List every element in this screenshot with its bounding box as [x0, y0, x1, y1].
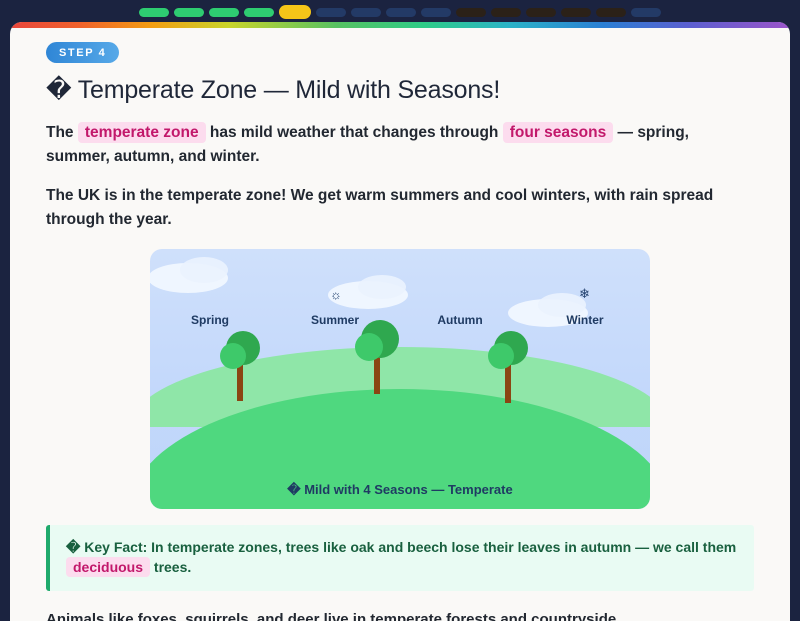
season-label-spring: Spring [165, 313, 255, 327]
tree-shape [220, 331, 260, 401]
intro-paragraph: The temperate zone has mild weather that… [46, 121, 754, 168]
illustration-caption: � Mild with 4 Seasons — Temperate [150, 482, 650, 498]
season-label-autumn: Autumn [415, 313, 505, 327]
progress-segment-3[interactable] [209, 8, 239, 17]
progress-segment-1[interactable] [139, 8, 169, 17]
key-fact-callout: � Key Fact: In temperate zones, trees li… [46, 525, 754, 591]
illustration-wrapper: ☼ ❄ Spring Summer Autumn Winter [46, 249, 754, 509]
tree-trunk [374, 354, 380, 394]
snowflake-icon: ❄ [579, 287, 590, 300]
tree-shape [355, 320, 399, 394]
paragraph1-part2: has mild weather that changes through [206, 124, 503, 141]
progress-segment-14[interactable] [596, 8, 626, 17]
progress-segment-4[interactable] [244, 8, 274, 17]
tree-canopy [488, 343, 514, 369]
progress-segment-13[interactable] [561, 8, 591, 17]
progress-segment-5[interactable] [279, 5, 311, 19]
highlight-temperate-zone: temperate zone [78, 122, 206, 143]
tree-trunk [505, 363, 511, 403]
progress-segment-6[interactable] [316, 8, 346, 17]
lesson-card: STEP 4 � Temperate Zone — Mild with Seas… [10, 22, 790, 621]
paragraph1-part1: The [46, 124, 78, 141]
season-label-winter: Winter [540, 313, 630, 327]
status-badge: STEP 4 [46, 42, 119, 63]
progress-segment-2[interactable] [174, 8, 204, 17]
seasons-illustration: ☼ ❄ Spring Summer Autumn Winter [150, 249, 650, 509]
key-fact-part1: � Key Fact: In temperate zones, trees li… [66, 539, 736, 555]
cloud-shape [180, 257, 228, 283]
key-fact-part2: trees. [150, 559, 191, 575]
closing-paragraph: Animals like foxes, squirrels, and deer … [46, 611, 754, 621]
highlight-four-seasons: four seasons [503, 122, 613, 143]
progress-segment-9[interactable] [421, 8, 451, 17]
progress-segment-11[interactable] [491, 8, 521, 17]
tree-shape [488, 331, 528, 403]
progress-segment-15[interactable] [631, 8, 661, 17]
uk-paragraph: The UK is in the temperate zone! We get … [46, 184, 754, 231]
highlight-deciduous: deciduous [66, 557, 150, 577]
progress-segment-7[interactable] [351, 8, 381, 17]
progress-segment-8[interactable] [386, 8, 416, 17]
page-title: � Temperate Zone — Mild with Seasons! [46, 75, 754, 105]
progress-segment-12[interactable] [526, 8, 556, 17]
sun-icon: ☼ [330, 288, 342, 301]
tree-canopy [220, 343, 246, 369]
tree-canopy [355, 333, 383, 361]
progress-segment-10[interactable] [456, 8, 486, 17]
card-body: STEP 4 � Temperate Zone — Mild with Seas… [10, 28, 790, 621]
progress-rail [0, 0, 800, 24]
